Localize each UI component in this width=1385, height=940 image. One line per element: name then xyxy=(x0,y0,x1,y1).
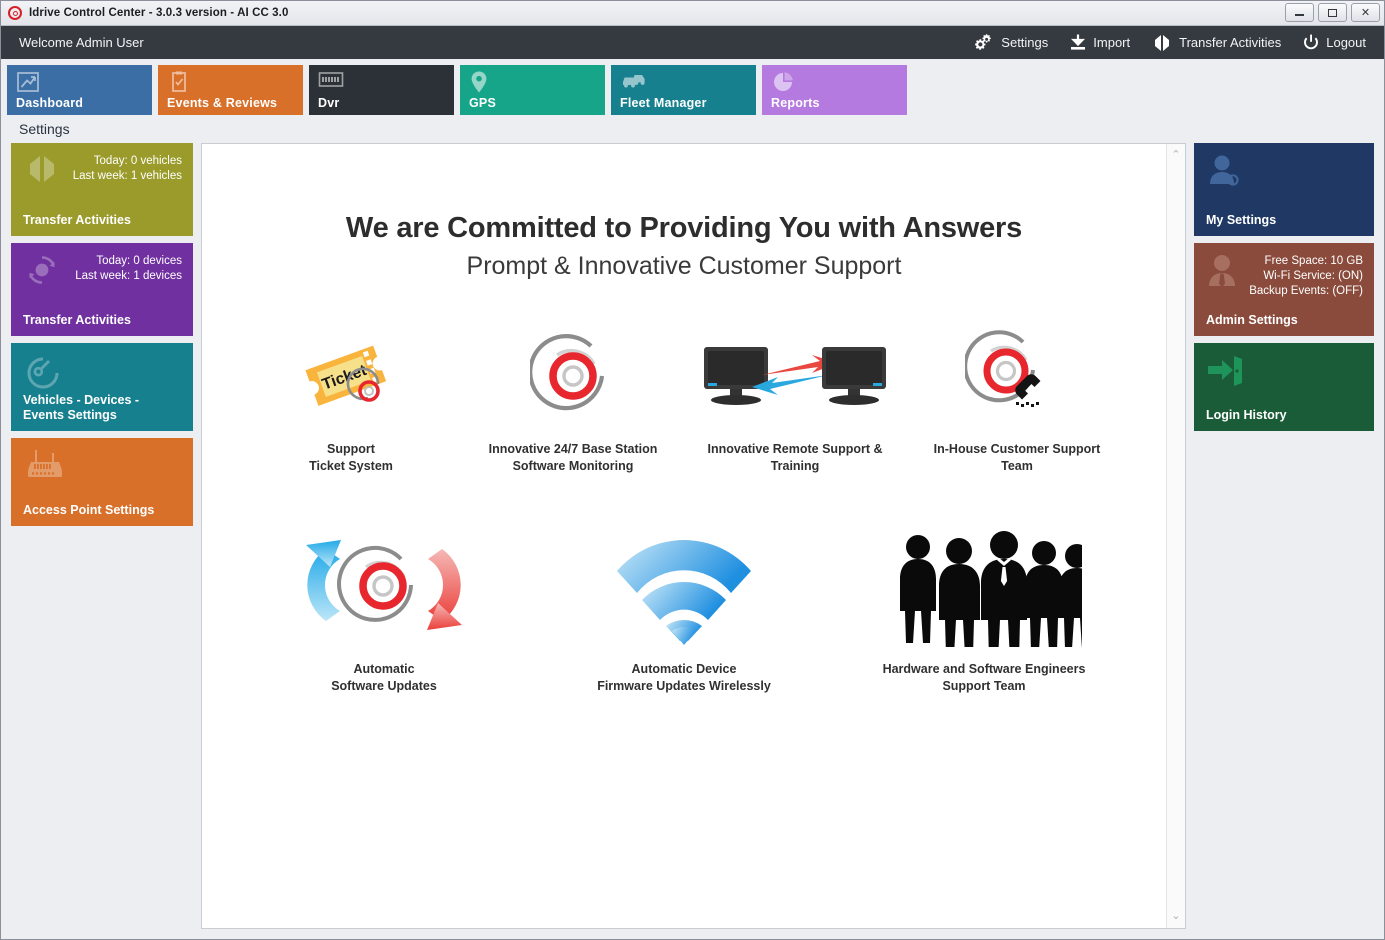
caption-line: Innovative 24/7 Base Station xyxy=(489,441,658,458)
tab-fleet-manager-label: Fleet Manager xyxy=(620,96,707,110)
caption-line: Software Monitoring xyxy=(489,458,658,475)
tab-dashboard[interactable]: Dashboard xyxy=(7,65,152,115)
welcome-message: Welcome Admin User xyxy=(19,35,144,50)
header-transfer-activities-button[interactable]: Transfer Activities xyxy=(1152,34,1281,52)
close-button[interactable]: ✕ xyxy=(1351,3,1380,22)
feature-automatic-firmware-updates: Automatic Device Firmware Updates Wirele… xyxy=(534,523,834,695)
map-pin-icon xyxy=(469,70,489,99)
page-title: We are Committed to Providing You with A… xyxy=(202,212,1166,245)
caption-line: Support xyxy=(309,441,393,458)
feature-caption: Automatic Device Firmware Updates Wirele… xyxy=(597,661,771,695)
tab-dvr[interactable]: Dvr xyxy=(309,65,454,115)
sidebar-item-admin-settings[interactable]: Free Space: 10 GB Wi-Fi Service: (ON) Ba… xyxy=(1194,243,1374,336)
scroll-up-arrow-icon[interactable]: ⌃ xyxy=(1171,150,1180,161)
page-subtitle: Prompt & Innovative Customer Support xyxy=(202,252,1166,281)
breadcrumb: Settings xyxy=(1,115,1384,143)
caption-line: Training xyxy=(707,458,882,475)
sidebar-item-label: My Settings xyxy=(1206,213,1364,228)
sidebar-item-login-history[interactable]: Login History xyxy=(1194,343,1374,431)
scroll-down-arrow-icon[interactable]: ⌄ xyxy=(1171,911,1180,922)
main-content-panel: We are Committed to Providing You with A… xyxy=(201,143,1186,929)
tab-gps-label: GPS xyxy=(469,96,496,110)
tab-reports-label: Reports xyxy=(771,96,820,110)
transfer-arrows-icon xyxy=(23,153,61,190)
stat-line: Today: 0 vehicles xyxy=(73,154,182,169)
caption-line: Ticket System xyxy=(309,458,393,475)
sidebar-item-label: Admin Settings xyxy=(1206,313,1364,328)
header-logout-button[interactable]: Logout xyxy=(1303,34,1366,51)
caption-line: Innovative Remote Support & xyxy=(707,441,882,458)
team-silhouette-icon xyxy=(887,523,1082,647)
feature-caption: In-House Customer Support Team xyxy=(934,441,1101,475)
left-sidebar: Today: 0 vehicles Last week: 1 vehicles … xyxy=(11,143,193,929)
router-icon xyxy=(23,448,69,487)
tab-fleet-manager[interactable]: Fleet Manager xyxy=(611,65,756,115)
tab-dashboard-label: Dashboard xyxy=(16,96,83,110)
stat-line: Wi-Fi Service: (ON) xyxy=(1249,269,1363,284)
admin-user-icon xyxy=(1206,253,1238,294)
vertical-scrollbar[interactable]: ⌃ ⌄ xyxy=(1166,144,1185,928)
tab-gps[interactable]: GPS xyxy=(460,65,605,115)
tab-events-reviews[interactable]: Events & Reviews xyxy=(158,65,303,115)
sidebar-item-my-settings[interactable]: My Settings xyxy=(1194,143,1374,236)
tab-reports[interactable]: Reports xyxy=(762,65,907,115)
feature-support-ticket-system: Ticket Support Ticket S xyxy=(240,323,462,475)
dvr-screen-icon xyxy=(318,70,344,95)
wrench-icon xyxy=(23,353,63,396)
minimize-button[interactable] xyxy=(1285,3,1314,22)
sidebar-item-stats: Today: 0 vehicles Last week: 1 vehicles xyxy=(73,154,182,184)
header-import-label: Import xyxy=(1093,35,1130,50)
sidebar-item-label: Transfer Activities xyxy=(23,313,183,328)
header-transfer-label: Transfer Activities xyxy=(1179,35,1281,50)
stat-line: Last week: 1 vehicles xyxy=(73,169,182,184)
caption-line: Hardware and Software Engineers xyxy=(883,661,1086,678)
features-row-1: Ticket Support Ticket S xyxy=(202,323,1166,475)
header-menu: Settings Import Transf xyxy=(974,34,1374,52)
header-settings-button[interactable]: Settings xyxy=(974,34,1048,52)
caption-line: Firmware Updates Wirelessly xyxy=(597,678,771,695)
header-import-button[interactable]: Import xyxy=(1070,34,1130,51)
sidebar-item-transfer-activities-vehicles[interactable]: Today: 0 vehicles Last week: 1 vehicles … xyxy=(11,143,193,236)
app-header: Welcome Admin User Settings xyxy=(1,26,1384,59)
sidebar-item-label: Transfer Activities xyxy=(23,213,183,228)
breadcrumb-label: Settings xyxy=(19,121,70,137)
feature-caption: Support Ticket System xyxy=(309,441,393,475)
caption-line: Automatic Device xyxy=(597,661,771,678)
remote-monitors-icon xyxy=(700,323,890,429)
window-controls: ✕ xyxy=(1285,3,1380,22)
stat-line: Free Space: 10 GB xyxy=(1249,254,1363,269)
feature-caption: Hardware and Software Engineers Support … xyxy=(883,661,1086,695)
user-gear-icon xyxy=(1206,153,1242,194)
transfer-arrows-icon xyxy=(1152,34,1172,52)
feature-hardware-software-engineers: Hardware and Software Engineers Support … xyxy=(834,523,1134,695)
download-icon xyxy=(1070,34,1086,51)
sidebar-item-access-point-settings[interactable]: Access Point Settings xyxy=(11,438,193,526)
sidebar-item-stats: Free Space: 10 GB Wi-Fi Service: (ON) Ba… xyxy=(1249,254,1363,299)
support-info-canvas: We are Committed to Providing You with A… xyxy=(202,144,1166,928)
sidebar-item-transfer-activities-devices[interactable]: Today: 0 devices Last week: 1 devices Tr… xyxy=(11,243,193,336)
clipboard-check-icon xyxy=(167,70,191,99)
wifi-icon xyxy=(609,523,759,647)
caption-line: In-House Customer Support xyxy=(934,441,1101,458)
feature-in-house-support-team: In-House Customer Support Team xyxy=(906,323,1128,475)
sidebar-item-vehicles-devices-events-settings[interactable]: Vehicles - Devices - Events Settings xyxy=(11,343,193,431)
feature-caption: Innovative Remote Support & Training xyxy=(707,441,882,475)
pie-chart-icon xyxy=(771,70,795,99)
caption-line: Team xyxy=(934,458,1101,475)
chart-arrow-icon xyxy=(16,70,40,99)
device-sync-icon xyxy=(23,253,61,292)
headline-block: We are Committed to Providing You with A… xyxy=(202,144,1166,281)
tab-events-reviews-label: Events & Reviews xyxy=(167,96,277,110)
target-phone-icon xyxy=(965,323,1069,429)
sidebar-item-label: Login History xyxy=(1206,408,1364,423)
application-window: Idrive Control Center - 3.0.3 version - … xyxy=(0,0,1385,940)
caption-line: Support Team xyxy=(883,678,1086,695)
stat-line: Backup Events: (OFF) xyxy=(1249,284,1363,299)
window-title: Idrive Control Center - 3.0.3 version - … xyxy=(29,7,288,19)
maximize-button[interactable] xyxy=(1318,3,1347,22)
sidebar-item-stats: Today: 0 devices Last week: 1 devices xyxy=(75,254,182,284)
stat-line: Last week: 1 devices xyxy=(75,269,182,284)
main-navigation-tabs: Dashboard Events & Reviews xyxy=(1,59,1384,115)
vehicles-icon xyxy=(620,70,648,95)
gears-icon xyxy=(974,34,994,52)
feature-caption: Innovative 24/7 Base Station Software Mo… xyxy=(489,441,658,475)
login-door-icon xyxy=(1206,353,1244,392)
tab-dvr-label: Dvr xyxy=(318,96,339,110)
right-sidebar: My Settings Free Space: 10 GB Wi-Fi Serv… xyxy=(1194,143,1374,929)
feature-remote-support-training: Innovative Remote Support & Training xyxy=(684,323,906,475)
features-row-2: Automatic Software Updates xyxy=(202,523,1166,695)
caption-line: Automatic xyxy=(331,661,437,678)
power-icon xyxy=(1303,34,1319,51)
support-ticket-icon: Ticket xyxy=(296,323,406,429)
target-logo-icon xyxy=(8,6,22,20)
feature-caption: Automatic Software Updates xyxy=(331,661,437,695)
sidebar-item-label: Access Point Settings xyxy=(23,503,183,518)
header-logout-label: Logout xyxy=(1326,35,1366,50)
feature-automatic-software-updates: Automatic Software Updates xyxy=(234,523,534,695)
title-bar: Idrive Control Center - 3.0.3 version - … xyxy=(1,1,1384,26)
page-body: Today: 0 vehicles Last week: 1 vehicles … xyxy=(1,143,1384,939)
feature-base-station-monitoring: Innovative 24/7 Base Station Software Mo… xyxy=(462,323,684,475)
sidebar-item-label: Vehicles - Devices - Events Settings xyxy=(23,393,183,423)
stat-line: Today: 0 devices xyxy=(75,254,182,269)
header-settings-label: Settings xyxy=(1001,35,1048,50)
target-refresh-icon xyxy=(294,523,474,647)
caption-line: Software Updates xyxy=(331,678,437,695)
target-logo-icon xyxy=(530,323,616,429)
